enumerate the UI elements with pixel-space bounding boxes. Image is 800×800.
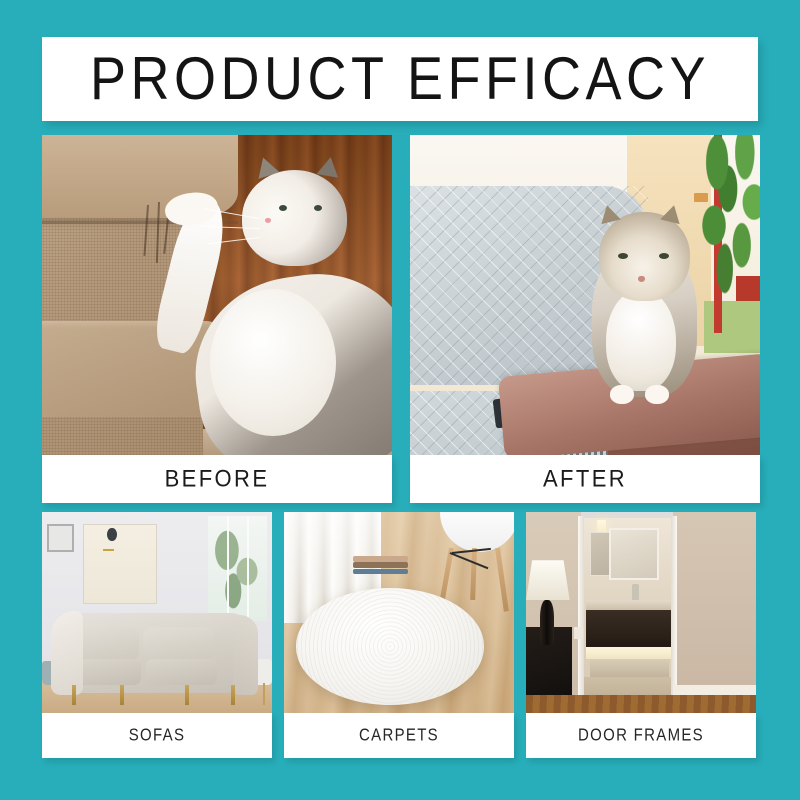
sofa-leg	[185, 685, 189, 705]
small-picture-frame	[47, 524, 75, 552]
sofas-photo	[42, 512, 272, 713]
cat-nose	[638, 276, 645, 282]
green-object	[704, 301, 760, 352]
wall-right	[673, 512, 756, 713]
baseboard	[673, 685, 756, 695]
under-cabinet-light	[586, 647, 671, 659]
after-photo	[410, 135, 760, 455]
sofa-leg	[120, 685, 124, 705]
sofa-back-cushion	[77, 627, 139, 661]
title-banner: PRODUCT EFFICACY	[42, 37, 758, 121]
side-table-leg	[263, 683, 265, 705]
cat-head	[599, 212, 690, 302]
book	[353, 569, 408, 575]
carpets-photo	[284, 512, 514, 713]
window-mullion	[247, 516, 249, 621]
book	[353, 562, 408, 568]
after-label-band: AFTER	[410, 455, 760, 503]
before-photo	[42, 135, 392, 455]
carpets-label: CARPETS	[359, 726, 439, 745]
lamp-base	[540, 600, 554, 644]
sofas-label: SOFAS	[129, 726, 186, 745]
sofa-arm-right	[233, 615, 258, 695]
sofa-leg	[231, 685, 235, 705]
cat-chest	[606, 289, 676, 391]
light-switch	[574, 627, 583, 639]
sofas-card: SOFAS	[42, 512, 272, 758]
sofa-seat-cushion	[77, 659, 141, 685]
carpets-card: CARPETS	[284, 512, 514, 758]
cat-paw-right	[645, 385, 670, 404]
book	[353, 556, 408, 562]
carpets-label-band: CARPETS	[284, 713, 514, 758]
wood-floor	[526, 695, 756, 713]
step	[590, 659, 668, 677]
art-bar	[103, 549, 114, 551]
sofa-back-cushion	[143, 627, 214, 661]
cat-paw-left	[610, 385, 635, 404]
vanity-counter	[586, 600, 671, 610]
stacked-books	[353, 556, 408, 574]
wall-art	[83, 524, 157, 604]
door-frames-card: DOOR FRAMES	[526, 512, 756, 758]
door-frames-photo	[526, 512, 756, 713]
before-label: BEFORE	[165, 465, 270, 493]
sofa-seat-cushion	[146, 659, 217, 685]
window	[208, 516, 268, 621]
cat-chest	[210, 289, 336, 436]
art-circle	[107, 528, 116, 541]
sofa-leg	[72, 685, 76, 705]
window-greenery	[211, 524, 264, 612]
sofa-arm-left	[51, 611, 83, 695]
product-efficacy-poster: PRODUCT EFFICACY	[0, 0, 800, 800]
dark-vanity	[586, 610, 671, 646]
after-card: AFTER	[410, 135, 760, 503]
window-mullion	[227, 516, 229, 621]
house-plant	[694, 135, 761, 295]
rug-texture	[296, 588, 485, 705]
bathroom-mirror	[609, 528, 660, 580]
door-frames-label-band: DOOR FRAMES	[526, 713, 756, 758]
after-label: AFTER	[543, 465, 627, 493]
sofas-label-band: SOFAS	[42, 713, 272, 758]
round-rug	[296, 588, 485, 705]
page-title: PRODUCT EFFICACY	[90, 44, 710, 113]
lamp-shade	[526, 560, 570, 600]
door-frame-left	[578, 516, 584, 709]
door-frame-right	[671, 516, 677, 709]
before-label-band: BEFORE	[42, 455, 392, 503]
door-frames-label: DOOR FRAMES	[578, 726, 704, 745]
before-card: BEFORE	[42, 135, 392, 503]
